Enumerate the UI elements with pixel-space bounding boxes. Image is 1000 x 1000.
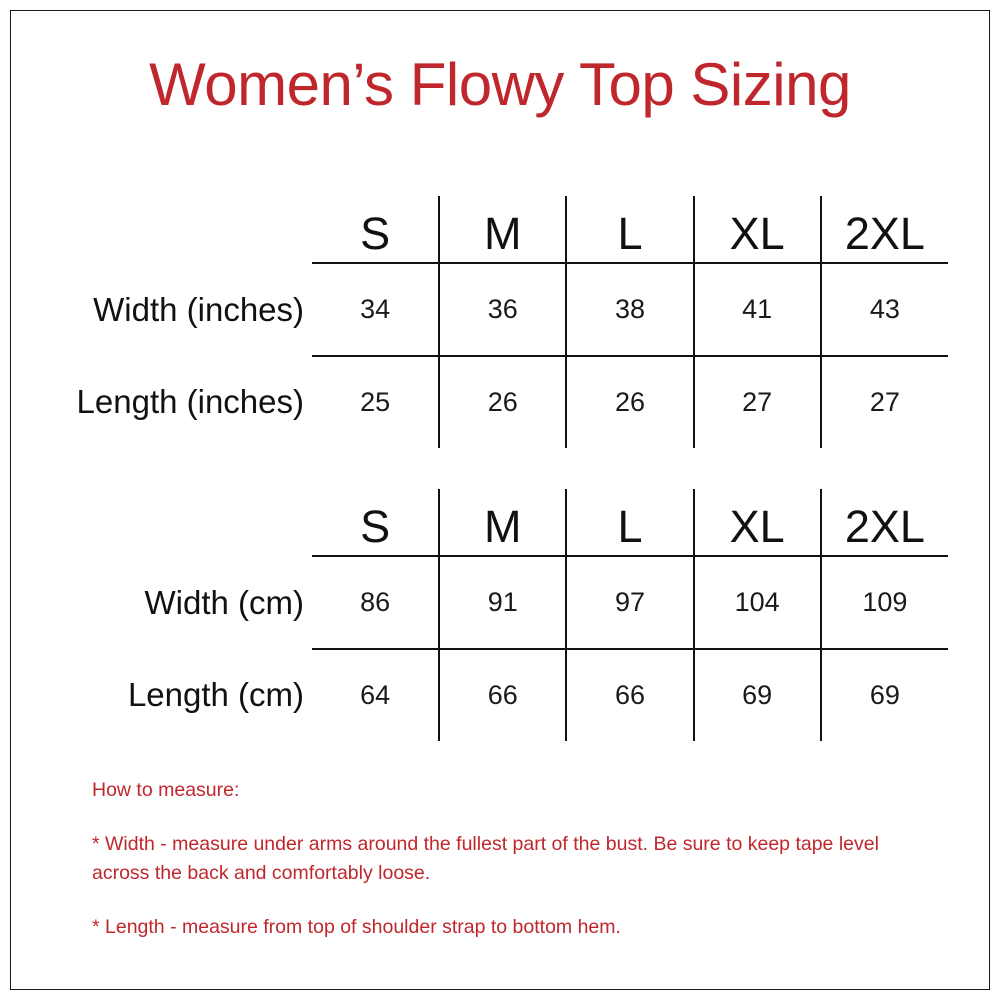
- note-width: * Width - measure under arms around the …: [92, 830, 922, 887]
- size-table-cm: S M L XL 2XL Width (cm) 86 91 97 104 109: [36, 489, 948, 741]
- table-cm-corner: [36, 489, 312, 556]
- cell-length-cm-m: 66: [439, 649, 566, 741]
- table-row: Length (inches) 25 26 26 27 27: [36, 356, 948, 448]
- column-header-s: S: [312, 196, 439, 263]
- how-to-measure-notes: How to measure: * Width - measure under …: [92, 776, 922, 941]
- table-cm-header: S M L XL 2XL: [36, 489, 948, 556]
- table-inches-corner: [36, 196, 312, 263]
- column-header-2xl: 2XL: [821, 196, 948, 263]
- cell-length-inches-2xl: 27: [821, 356, 948, 448]
- column-header-m: M: [439, 196, 566, 263]
- cell-width-cm-2xl: 109: [821, 556, 948, 649]
- cell-width-inches-2xl: 43: [821, 263, 948, 356]
- column-header-xl: XL: [694, 196, 821, 263]
- table-inches-header: S M L XL 2XL: [36, 196, 948, 263]
- notes-heading: How to measure:: [92, 776, 922, 804]
- cell-width-inches-m: 36: [439, 263, 566, 356]
- column-header-m: M: [439, 489, 566, 556]
- table-inches: S M L XL 2XL Width (inches) 34 36 38 41 …: [36, 196, 948, 448]
- table-cm-body: Width (cm) 86 91 97 104 109 Length (cm) …: [36, 556, 948, 741]
- table-cm: S M L XL 2XL Width (cm) 86 91 97 104 109: [36, 489, 948, 741]
- cell-length-inches-xl: 27: [694, 356, 821, 448]
- size-table-inches: S M L XL 2XL Width (inches) 34 36 38 41 …: [36, 196, 948, 448]
- column-header-l: L: [566, 489, 693, 556]
- column-header-s: S: [312, 489, 439, 556]
- cell-width-cm-l: 97: [566, 556, 693, 649]
- cell-width-cm-m: 91: [439, 556, 566, 649]
- column-header-l: L: [566, 196, 693, 263]
- note-length: * Length - measure from top of shoulder …: [92, 913, 922, 941]
- cell-length-cm-2xl: 69: [821, 649, 948, 741]
- table-header-row: S M L XL 2XL: [36, 489, 948, 556]
- row-label-length-cm: Length (cm): [36, 649, 312, 741]
- cell-length-cm-l: 66: [566, 649, 693, 741]
- table-row: Length (cm) 64 66 66 69 69: [36, 649, 948, 741]
- row-label-width-inches: Width (inches): [36, 263, 312, 356]
- page-title: Women’s Flowy Top Sizing: [0, 52, 1000, 118]
- cell-length-cm-s: 64: [312, 649, 439, 741]
- column-header-xl: XL: [694, 489, 821, 556]
- row-label-length-inches: Length (inches): [36, 356, 312, 448]
- cell-width-inches-l: 38: [566, 263, 693, 356]
- table-header-row: S M L XL 2XL: [36, 196, 948, 263]
- table-row: Width (inches) 34 36 38 41 43: [36, 263, 948, 356]
- sizing-chart-page: Women’s Flowy Top Sizing S M L XL 2XL: [0, 0, 1000, 1000]
- table-row: Width (cm) 86 91 97 104 109: [36, 556, 948, 649]
- column-header-2xl: 2XL: [821, 489, 948, 556]
- cell-length-inches-m: 26: [439, 356, 566, 448]
- table-inches-body: Width (inches) 34 36 38 41 43 Length (in…: [36, 263, 948, 448]
- cell-width-inches-s: 34: [312, 263, 439, 356]
- cell-width-inches-xl: 41: [694, 263, 821, 356]
- cell-length-inches-s: 25: [312, 356, 439, 448]
- cell-width-cm-s: 86: [312, 556, 439, 649]
- cell-length-cm-xl: 69: [694, 649, 821, 741]
- cell-length-inches-l: 26: [566, 356, 693, 448]
- cell-width-cm-xl: 104: [694, 556, 821, 649]
- row-label-width-cm: Width (cm): [36, 556, 312, 649]
